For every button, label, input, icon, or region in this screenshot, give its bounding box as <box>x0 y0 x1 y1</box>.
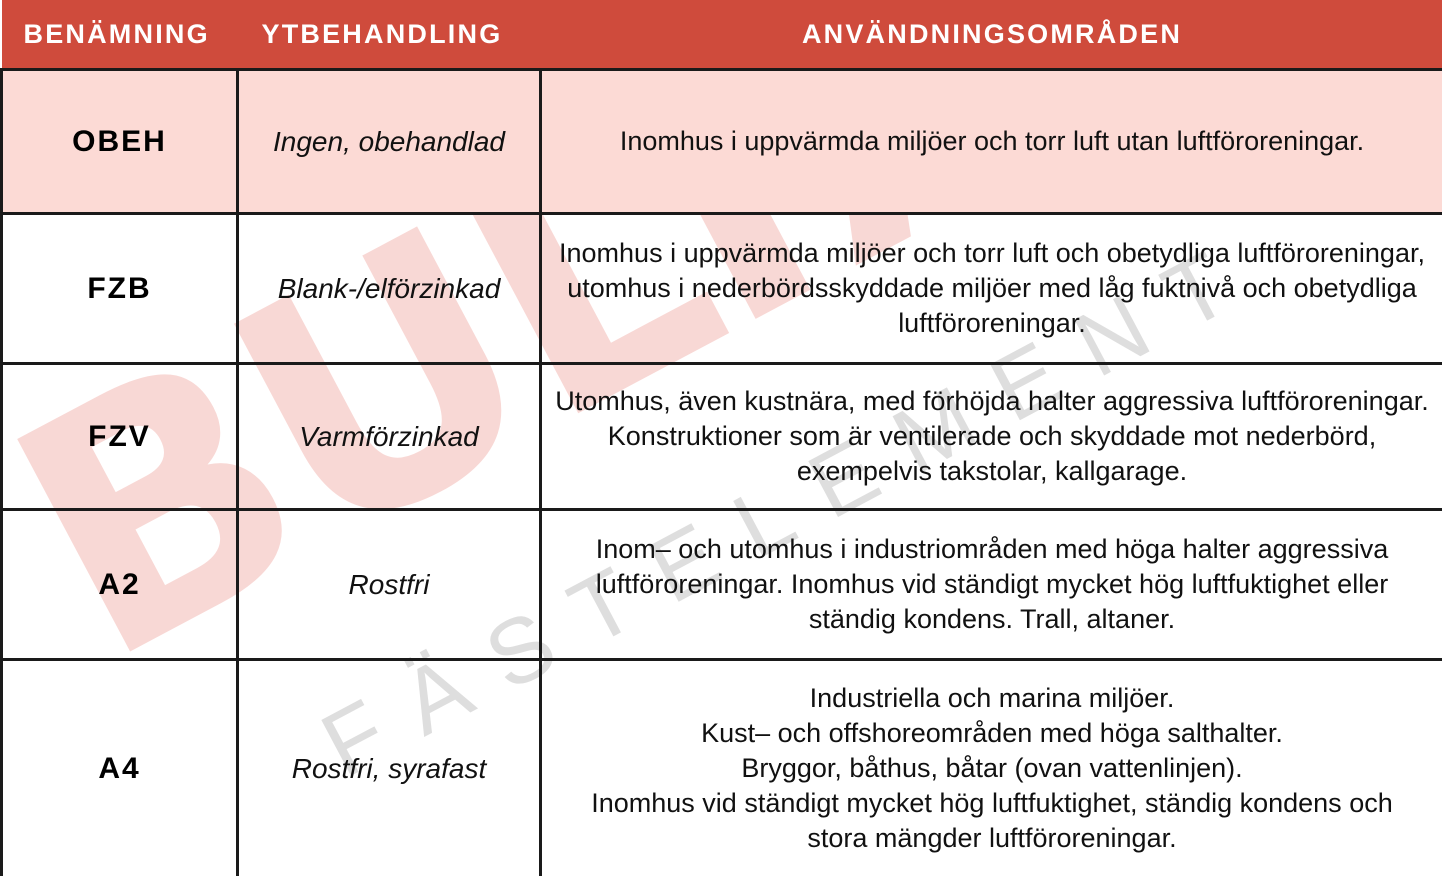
table-row: A2 Rostfri Inom– och utomhus i industrio… <box>2 510 1442 660</box>
column-header-benamning: BENÄMNING <box>2 0 238 70</box>
cell-benamning: FZB <box>2 214 238 364</box>
table-header-row: BENÄMNING YTBEHANDLING ANVÄNDNINGSOMRÅDE… <box>2 0 1442 70</box>
cell-benamning: OBEH <box>2 70 238 214</box>
column-header-anvandningsomraden: ANVÄNDNINGSOMRÅDEN <box>541 0 1442 70</box>
surface-treatment-table-wrapper: BENÄMNING YTBEHANDLING ANVÄNDNINGSOMRÅDE… <box>0 0 1442 876</box>
usage-line: stora mängder luftföroreningar. <box>552 821 1432 856</box>
cell-benamning: FZV <box>2 364 238 510</box>
table-row: A4 Rostfri, syrafast Industriella och ma… <box>2 660 1442 876</box>
column-header-ytbehandling: YTBEHANDLING <box>238 0 541 70</box>
cell-anvandning: Inomhus i uppvärmda miljöer och torr luf… <box>541 70 1442 214</box>
table-row: FZV Varmförzinkad Utomhus, även kustnära… <box>2 364 1442 510</box>
cell-ytbehandling: Rostfri <box>238 510 541 660</box>
cell-anvandning: Inomhus i uppvärmda miljöer och torr luf… <box>541 214 1442 364</box>
cell-ytbehandling: Varmförzinkad <box>238 364 541 510</box>
cell-ytbehandling: Ingen, obehandlad <box>238 70 541 214</box>
usage-line: Inomhus vid ständigt mycket hög luftfukt… <box>552 786 1432 821</box>
cell-benamning: A4 <box>2 660 238 876</box>
cell-benamning: A2 <box>2 510 238 660</box>
table-body: OBEH Ingen, obehandlad Inomhus i uppvärm… <box>2 70 1442 876</box>
usage-line: Industriella och marina miljöer. <box>552 681 1432 716</box>
cell-ytbehandling: Rostfri, syrafast <box>238 660 541 876</box>
table-row: FZB Blank-/elförzinkad Inomhus i uppvärm… <box>2 214 1442 364</box>
surface-treatment-table: BENÄMNING YTBEHANDLING ANVÄNDNINGSOMRÅDE… <box>0 0 1442 876</box>
usage-line: Kust– och offshoreområden med höga salth… <box>552 716 1432 751</box>
page-root: BULTAB FÄSTELEMENT BENÄMNING YTBEHANDLIN… <box>0 0 1442 876</box>
table-header: BENÄMNING YTBEHANDLING ANVÄNDNINGSOMRÅDE… <box>2 0 1442 70</box>
cell-ytbehandling: Blank-/elförzinkad <box>238 214 541 364</box>
cell-anvandning: Utomhus, även kustnära, med förhöjda hal… <box>541 364 1442 510</box>
cell-anvandning-multiline: Industriella och marina miljöer. Kust– o… <box>541 660 1442 876</box>
cell-anvandning: Inom– och utomhus i industriområden med … <box>541 510 1442 660</box>
table-row: OBEH Ingen, obehandlad Inomhus i uppvärm… <box>2 70 1442 214</box>
usage-line: Bryggor, båthus, båtar (ovan vattenlinje… <box>552 751 1432 786</box>
